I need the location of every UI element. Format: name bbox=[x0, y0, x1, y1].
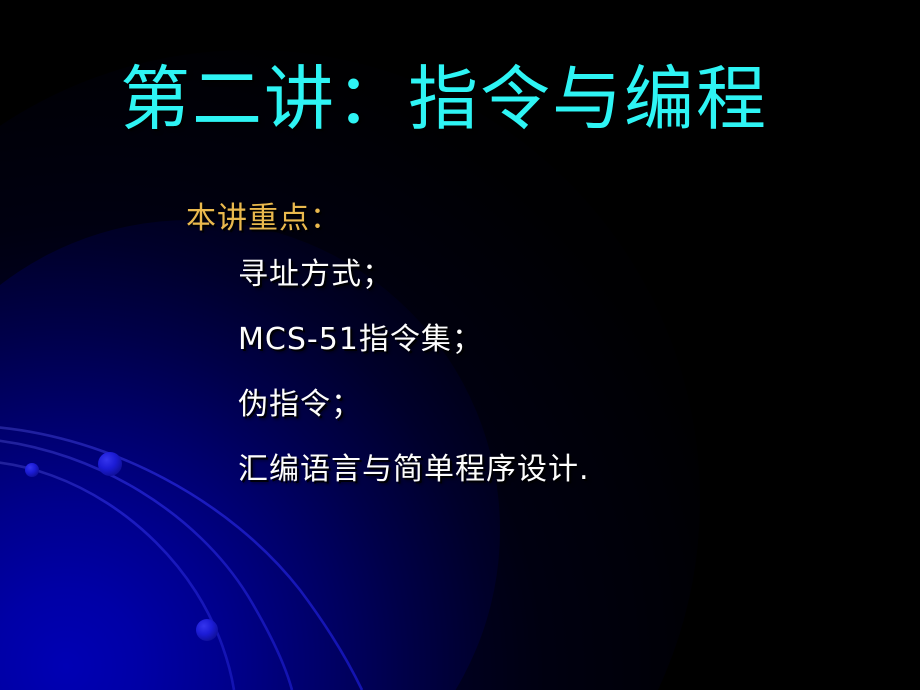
key-points-list: 寻址方式； MCS-51指令集； 伪指令； 汇编语言与简单程序设计. bbox=[238, 260, 886, 485]
key-point-item: 寻址方式； bbox=[238, 260, 886, 290]
slide-canvas: 第二讲：指令与编程 本讲重点： 寻址方式； MCS-51指令集； 伪指令； 汇编… bbox=[0, 0, 920, 690]
swoosh-dot-large bbox=[98, 452, 122, 476]
swoosh-dot-small bbox=[25, 463, 39, 477]
swoosh-dot-lower bbox=[196, 619, 218, 641]
swoosh-arc-inner bbox=[0, 462, 234, 690]
slide-lead-label: 本讲重点： bbox=[186, 204, 886, 234]
key-point-item: MCS-51指令集； bbox=[238, 325, 886, 355]
key-point-item: 伪指令； bbox=[238, 390, 886, 420]
slide-title: 第二讲：指令与编程 bbox=[120, 62, 820, 138]
key-point-item: 汇编语言与简单程序设计. bbox=[238, 455, 886, 485]
slide-body: 本讲重点： 寻址方式； MCS-51指令集； 伪指令； 汇编语言与简单程序设计. bbox=[186, 204, 886, 485]
